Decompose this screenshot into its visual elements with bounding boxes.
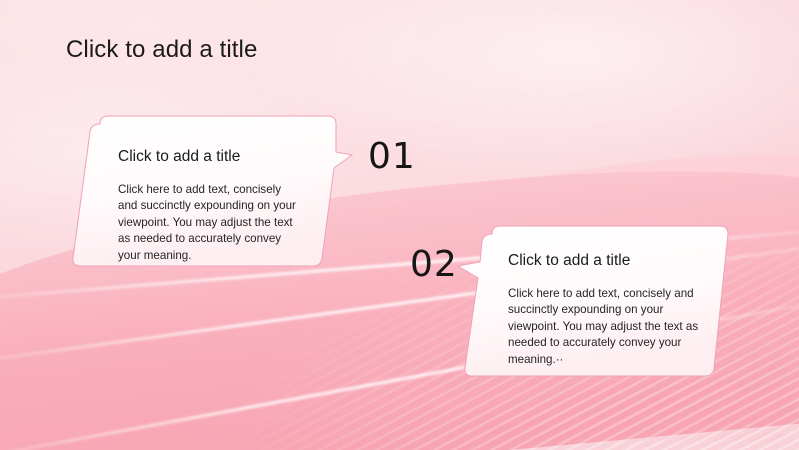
- slide-canvas: Click to add a title Click to add a titl…: [0, 0, 799, 450]
- callout-card-02[interactable]: Click to add a title Click here to add t…: [452, 222, 752, 384]
- callout-title-01[interactable]: Click to add a title: [118, 148, 300, 166]
- step-number-02: 02: [410, 244, 458, 285]
- callout-body-01[interactable]: Click here to add text, concisely and su…: [118, 182, 300, 264]
- callout-title-02[interactable]: Click to add a title: [508, 252, 704, 270]
- callout-body-02[interactable]: Click here to add text, concisely and su…: [508, 286, 704, 368]
- callout-text-block-02: Click to add a title Click here to add t…: [508, 252, 704, 368]
- callout-card-01[interactable]: Click to add a title Click here to add t…: [60, 112, 360, 274]
- step-number-01: 01: [368, 136, 416, 177]
- page-title[interactable]: Click to add a title: [66, 36, 257, 64]
- callout-text-block-01: Click to add a title Click here to add t…: [118, 148, 300, 264]
